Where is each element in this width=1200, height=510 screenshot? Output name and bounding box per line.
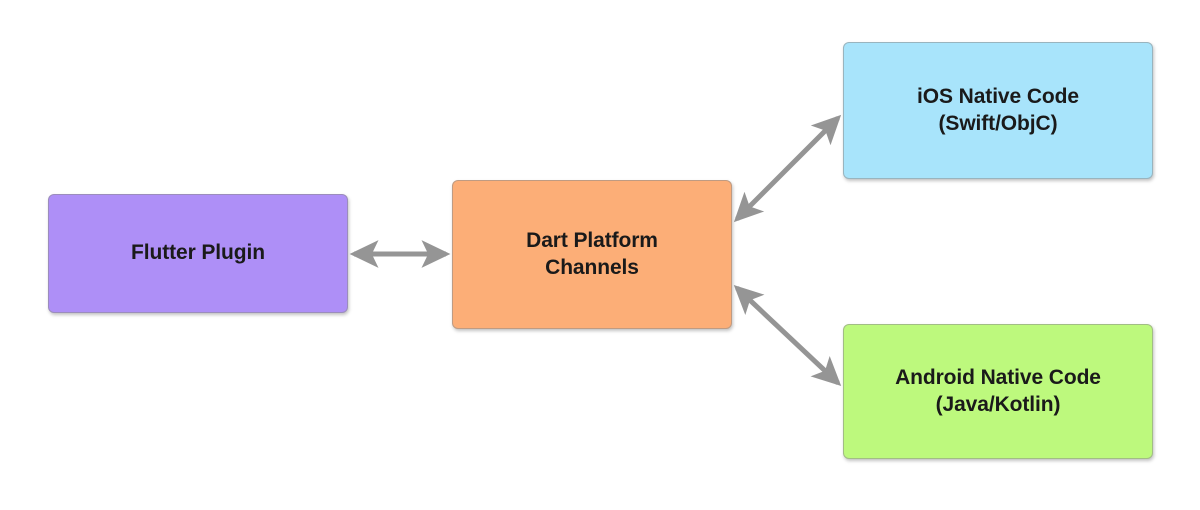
diagram-canvas: Flutter Plugin Dart Platform Channels iO… — [0, 0, 1200, 510]
node-flutter-plugin[interactable]: Flutter Plugin — [48, 194, 348, 313]
node-ios-native-code-label: iOS Native Code (Swift/ObjC) — [907, 84, 1089, 138]
node-ios-native-code[interactable]: iOS Native Code (Swift/ObjC) — [843, 42, 1153, 179]
node-dart-platform-channels[interactable]: Dart Platform Channels — [452, 180, 732, 329]
node-flutter-plugin-label: Flutter Plugin — [121, 240, 275, 267]
node-android-native-code[interactable]: Android Native Code (Java/Kotlin) — [843, 324, 1153, 459]
node-dart-platform-channels-label: Dart Platform Channels — [516, 228, 668, 282]
node-android-native-code-label: Android Native Code (Java/Kotlin) — [885, 365, 1111, 419]
edge-dart-platform-channels-to-android-native-code — [737, 288, 838, 383]
edge-dart-platform-channels-to-ios-native-code — [737, 118, 838, 219]
